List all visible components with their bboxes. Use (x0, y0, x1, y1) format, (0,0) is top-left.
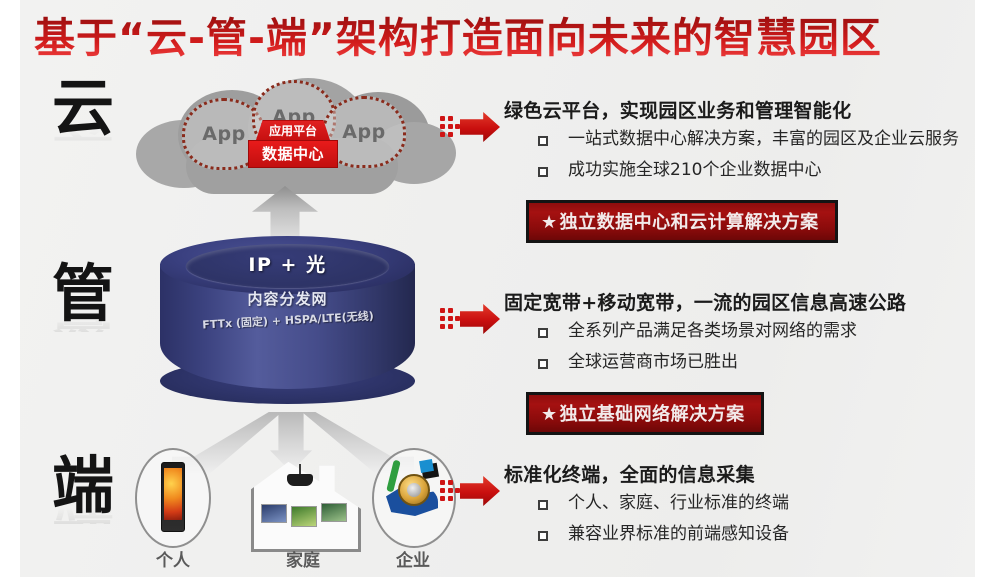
pipe-line-2: 内容分发网 (160, 288, 415, 309)
bullet-list: 个人、家庭、行业标准的终端 兼容业界标准的前端感知设备 (534, 490, 975, 552)
terminal-label-home: 家庭 (245, 546, 361, 571)
callout-text: 独立数据中心和云计算解决方案 (560, 212, 819, 233)
star-icon: ★ (541, 212, 558, 233)
cloud-graphic: App App App 应用平台 数据中心 (130, 76, 445, 196)
slide-canvas: 基于“云-管-端”架构打造面向未来的智慧园区 基于“云-管-端”架构打造面向未来… (20, 0, 975, 577)
data-center-badge: 数据中心 (248, 140, 338, 168)
page-title: 基于“云-管-端”架构打造面向未来的智慧园区 (34, 10, 934, 66)
arrow-head-icon (460, 304, 500, 334)
list-item: 全系列产品满足各类场景对网络的需求 (534, 318, 975, 344)
red-arrow-icon (438, 110, 500, 144)
wifi-router-icon (287, 474, 313, 486)
arrow-head-icon (460, 112, 500, 142)
layer-label-terminal: 端 端 (38, 450, 128, 564)
block-heading: 标准化终端，全面的信息采集 (504, 460, 755, 487)
red-arrow-icon (438, 302, 500, 336)
industrial-meter-icon (398, 474, 430, 506)
list-item: 全球运营商市场已胜出 (534, 349, 975, 375)
block-heading: 固定宽带+移动宽带，一流的园区信息高速公路 (504, 288, 906, 315)
list-item: 成功实施全球210个企业数据中心 (534, 157, 975, 183)
network-cylinder-graphic: IP + 光 内容分发网 FTTx (固定) + HSPA/LTE(无线) (160, 236, 415, 416)
star-icon: ★ (541, 404, 558, 425)
layer-label-pipe-reflection: 管 (38, 310, 128, 332)
list-item: 个人、家庭、行业标准的终端 (534, 490, 975, 516)
tv-icon (321, 503, 347, 522)
red-arrow-icon (438, 474, 500, 508)
smartphone-screen-icon (164, 468, 182, 520)
block-heading: 绿色云平台，实现园区业务和管理智能化 (504, 96, 851, 123)
layer-label-cloud: 云 云 (38, 72, 128, 186)
layer-label-pipe: 管 管 (38, 258, 128, 372)
meter-dial-icon (407, 483, 421, 497)
terminal-label-enterprise: 企业 (369, 546, 457, 571)
terminal-home: 家庭 (235, 448, 370, 576)
pipe-line-1: IP + 光 (160, 250, 415, 277)
list-item: 一站式数据中心解决方案，丰富的园区及企业云服务 (534, 126, 975, 152)
callout-badge: ★独立数据中心和云计算解决方案 (526, 200, 838, 243)
terminal-enterprise: 企业 (372, 448, 458, 576)
cyan-module-icon (419, 459, 434, 473)
laptop-icon (261, 504, 287, 523)
layer-label-cloud-reflection: 云 (38, 124, 128, 146)
layer-label-terminal-reflection: 端 (38, 502, 128, 524)
bullet-list: 一站式数据中心解决方案，丰富的园区及企业云服务 成功实施全球210个企业数据中心 (534, 126, 975, 188)
list-item: 兼容业界标准的前端感知设备 (534, 521, 975, 547)
bullet-list: 全系列产品满足各类场景对网络的需求 全球运营商市场已胜出 (534, 318, 975, 380)
callout-badge: ★独立基础网络解决方案 (526, 392, 764, 435)
monitor-icon (291, 506, 317, 527)
smartphone-icon (161, 462, 185, 532)
terminal-individual: 个人 (135, 448, 215, 576)
arrow-head-icon (460, 476, 500, 506)
callout-text: 独立基础网络解决方案 (560, 404, 745, 425)
terminal-label-individual: 个人 (131, 546, 215, 571)
